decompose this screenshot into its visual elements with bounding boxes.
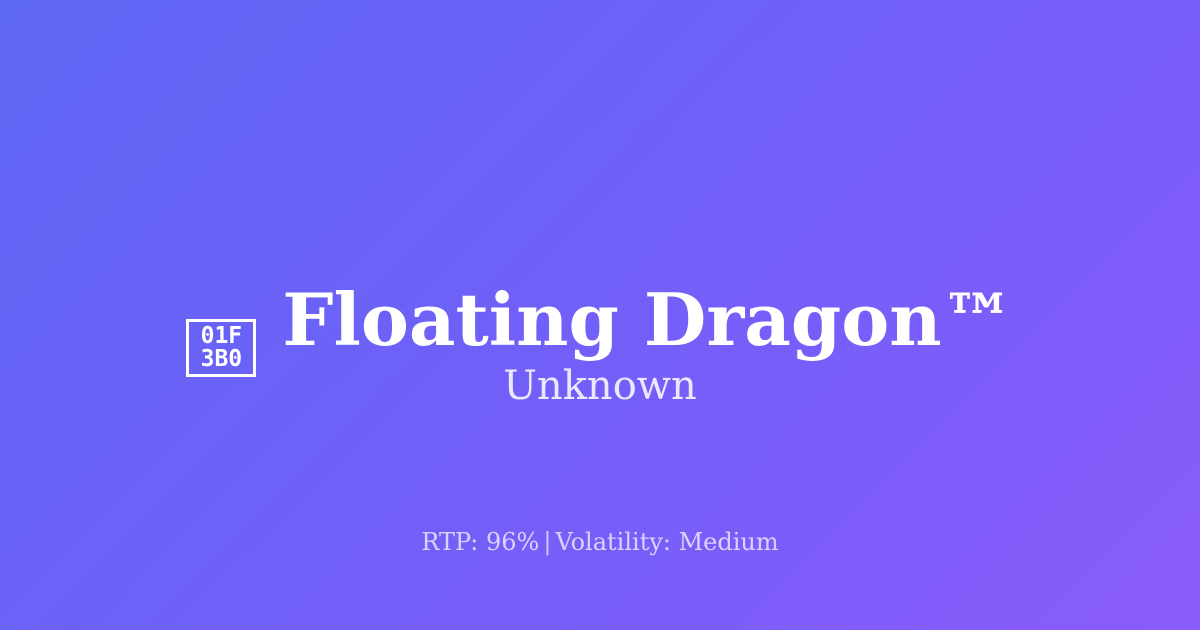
volatility-stat: Volatility: Medium	[555, 528, 778, 556]
game-stats-line: RTP: 96%|Volatility: Medium	[0, 526, 1200, 558]
rtp-stat: RTP: 96%	[421, 528, 539, 556]
tofu-hex-top: 01F	[201, 325, 243, 348]
stats-separator: |	[539, 528, 555, 556]
game-preview-card: 01F 3B0 Floating Dragon™ Unknown RTP: 96…	[0, 0, 1200, 630]
page-title: Floating Dragon™	[282, 280, 1013, 360]
provider-label: Unknown	[0, 362, 1200, 410]
game-title-text: Floating Dragon	[282, 277, 941, 362]
trademark-symbol: ™	[942, 277, 1014, 362]
